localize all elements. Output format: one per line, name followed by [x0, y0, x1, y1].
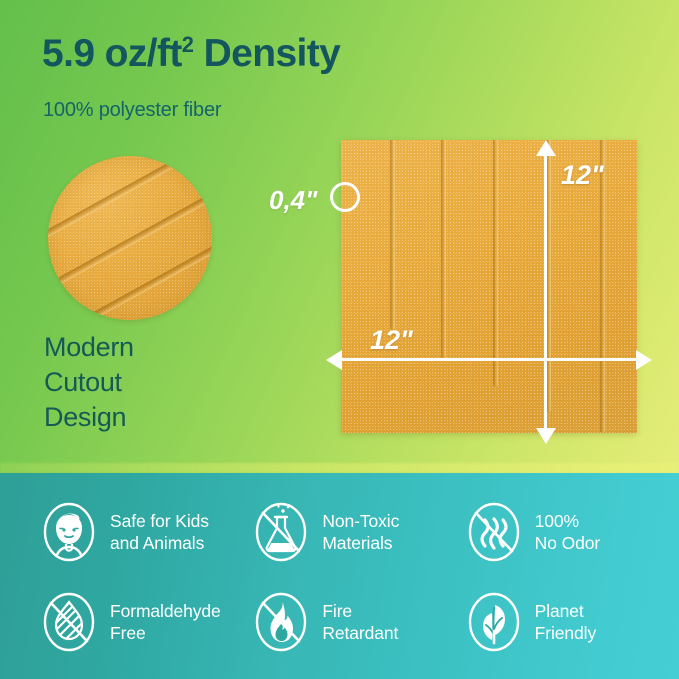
product-infographic: 5.9 oz/ft2 Density 100% polyester fiber … — [0, 0, 679, 679]
title-main-text: 5.9 oz/ft — [42, 32, 182, 75]
height-dimension-label: 12" — [561, 160, 604, 191]
feature-label: 100% No Odor — [535, 510, 600, 555]
flask-no-icon — [254, 501, 308, 563]
page-title: 5.9 oz/ft2 Density — [42, 34, 340, 75]
feature-label: Safe for Kids and Animals — [110, 510, 209, 555]
thickness-circle-indicator — [330, 182, 360, 212]
panel-groove — [390, 140, 395, 330]
flame-no-icon — [254, 591, 308, 653]
swatch-circle — [48, 156, 212, 320]
panel-groove — [493, 140, 498, 387]
droplet-no-icon — [42, 591, 96, 653]
feature-item-planet-friendly: Planet Friendly — [467, 577, 679, 667]
odor-waves-no-icon — [467, 501, 521, 563]
feature-item-no-odor: 100% No Odor — [467, 487, 679, 577]
width-dimension-label: 12" — [370, 325, 413, 356]
height-arrow-top — [536, 140, 556, 156]
panel-groove — [441, 140, 446, 359]
feature-item-fire-retardant: Fire Retardant — [254, 577, 466, 667]
child-face-icon — [42, 501, 96, 563]
feature-label: Planet Friendly — [535, 600, 596, 645]
feature-item-formaldehyde-free: Formaldehyde Free — [42, 577, 254, 667]
title-tail-text: Density — [193, 32, 340, 75]
swatch-shading — [48, 156, 212, 320]
height-dimension-line — [544, 148, 547, 436]
material-swatch — [48, 156, 212, 320]
feature-grid: Safe for Kids and Animals Non-Toxic Mate… — [0, 487, 679, 667]
feature-label: Fire Retardant — [322, 600, 398, 645]
feature-label: Formaldehyde Free — [110, 600, 221, 645]
width-dimension-line — [334, 358, 644, 361]
swatch-caption: Modern Cutout Design — [44, 330, 134, 435]
thickness-dimension-label: 0,4" — [269, 185, 317, 216]
feature-item-non-toxic: Non-Toxic Materials — [254, 487, 466, 577]
height-arrow-bottom — [536, 428, 556, 444]
title-superscript: 2 — [182, 32, 194, 57]
width-arrow-right — [636, 350, 652, 370]
page-subtitle: 100% polyester fiber — [43, 99, 221, 122]
leaves-icon — [467, 591, 521, 653]
width-arrow-left — [326, 350, 342, 370]
feature-label: Non-Toxic Materials — [322, 510, 399, 555]
feature-item-safe-for-kids: Safe for Kids and Animals — [42, 487, 254, 577]
